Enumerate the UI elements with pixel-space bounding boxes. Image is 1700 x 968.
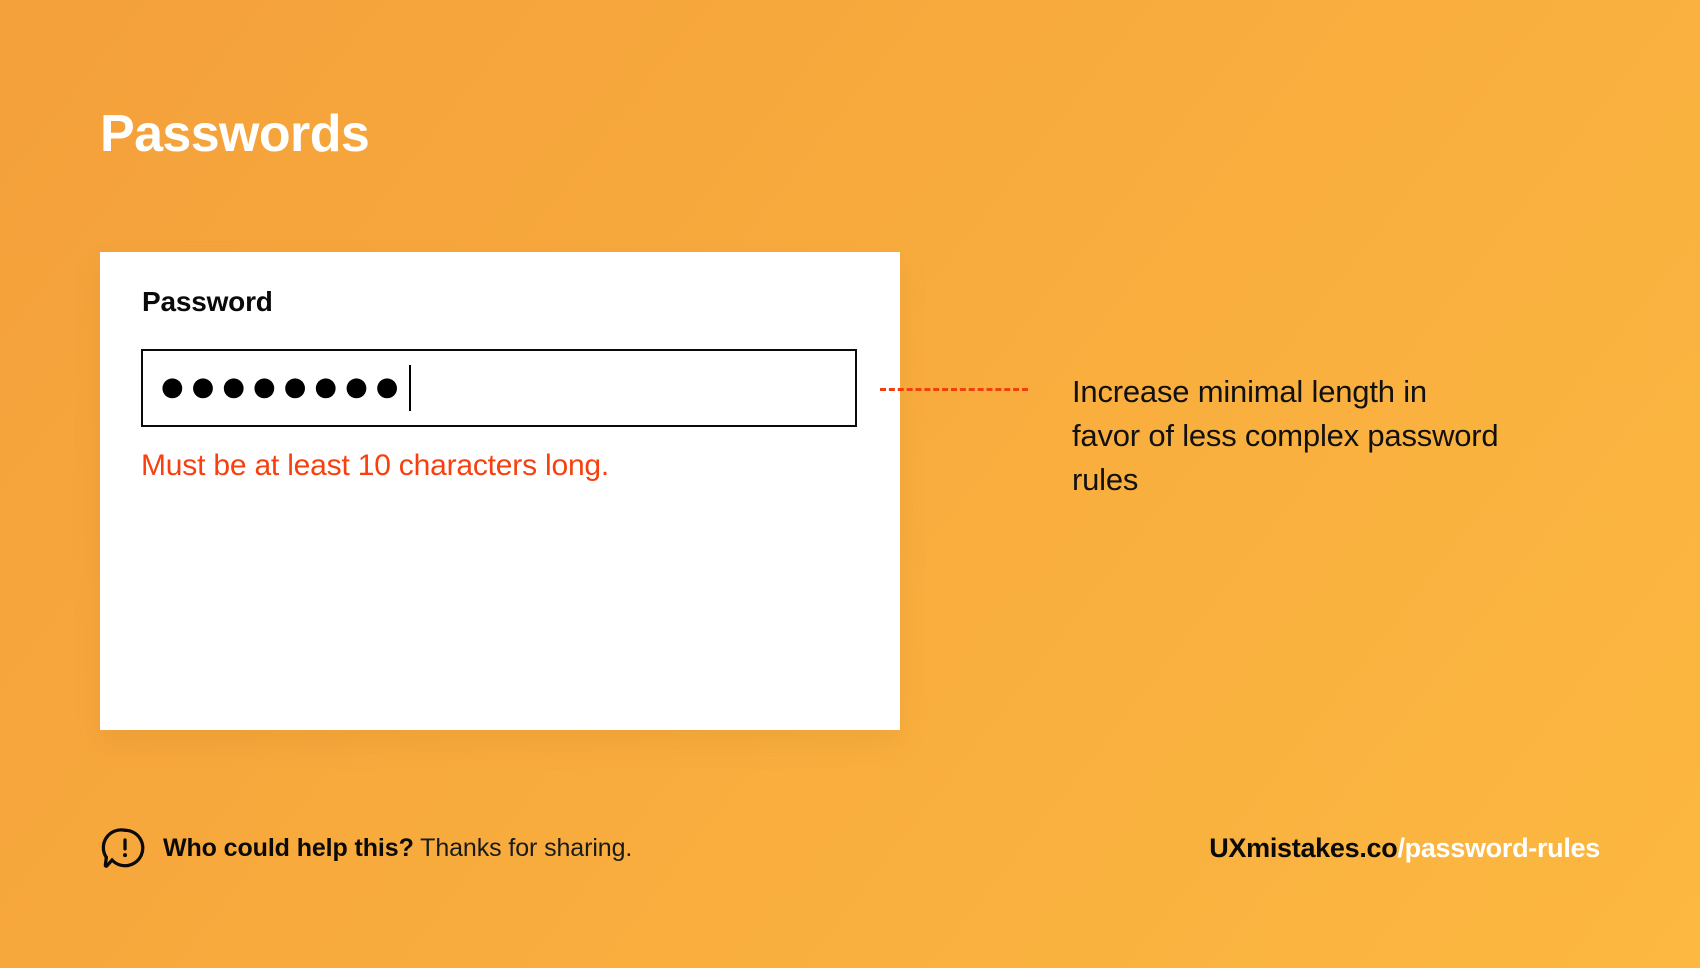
- password-masked-value: ●●●●●●●●: [161, 374, 407, 400]
- text-caret: [409, 365, 411, 411]
- password-field-label: Password: [142, 286, 273, 318]
- password-error-message: Must be at least 10 characters long.: [141, 449, 609, 483]
- footer-link[interactable]: UXmistakes.co/password-rules: [1209, 833, 1600, 864]
- password-input[interactable]: ●●●●●●●●: [141, 349, 857, 427]
- alert-speech-bubble-icon: [100, 825, 146, 871]
- footer-link-path: /password-rules: [1397, 833, 1600, 863]
- annotation-connector-line: [880, 388, 1028, 391]
- footer-text: Who could help this? Thanks for sharing.: [163, 834, 632, 863]
- footer-cta-text: Who could help this?: [163, 834, 414, 862]
- footer-thanks-text: Thanks for sharing.: [420, 834, 632, 862]
- page-title: Passwords: [100, 108, 369, 160]
- annotation-text: Increase minimal length in favor of less…: [1072, 370, 1502, 502]
- footer-link-domain: UXmistakes.co: [1209, 833, 1397, 863]
- password-form-card: Password ●●●●●●●● Must be at least 10 ch…: [100, 252, 900, 730]
- slide-canvas: Passwords Password ●●●●●●●● Must be at l…: [0, 0, 1700, 968]
- footer-note: Who could help this? Thanks for sharing.: [100, 825, 632, 871]
